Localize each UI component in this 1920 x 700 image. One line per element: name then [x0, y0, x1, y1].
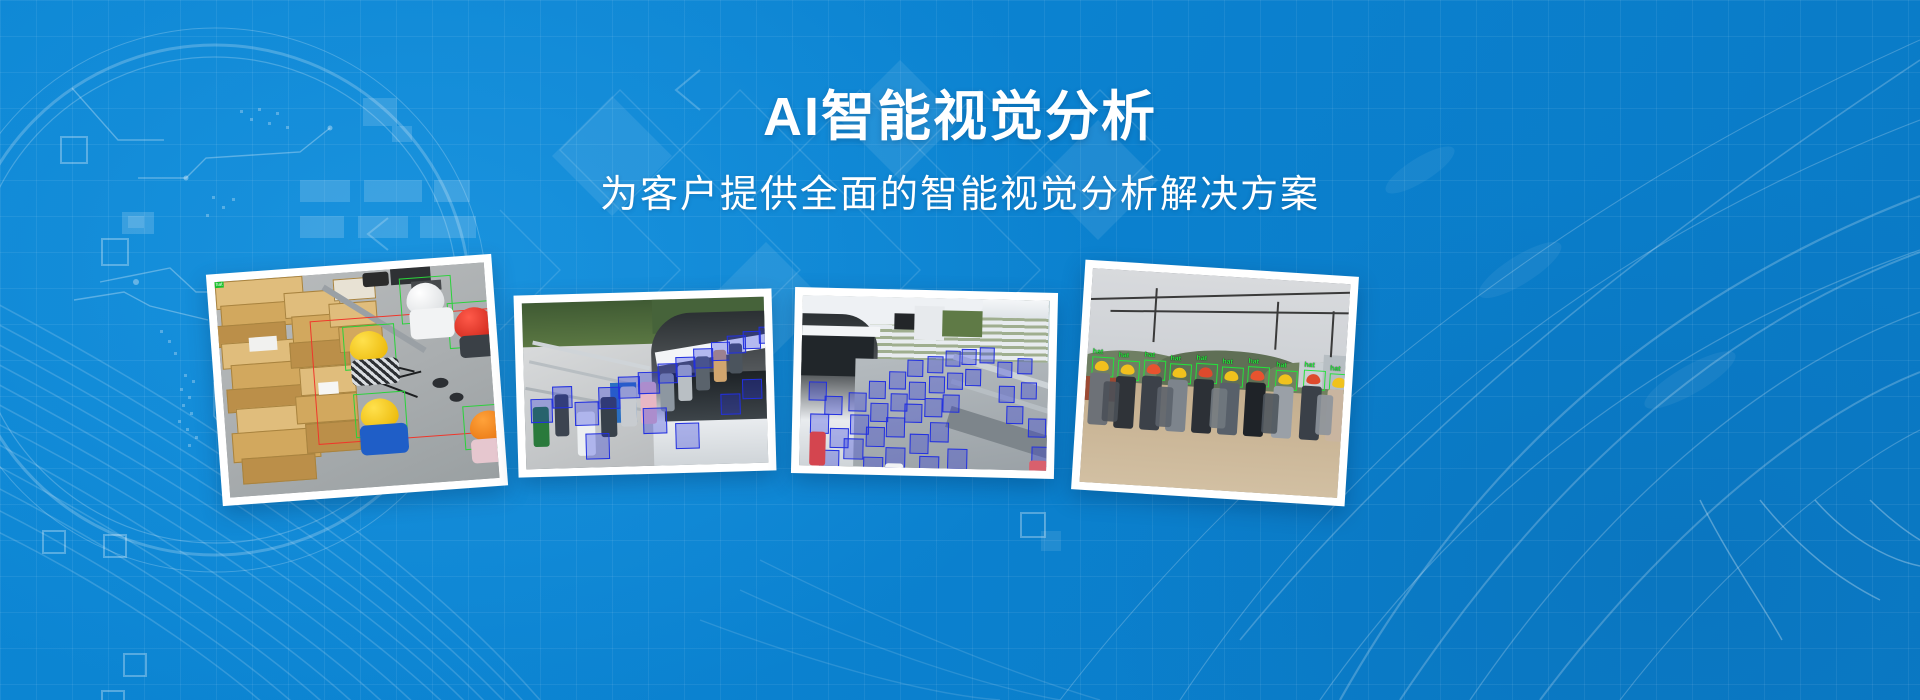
photo-bridge-scene: [522, 297, 769, 470]
ai-vision-banner: AI智能视觉分析 为客户提供全面的智能视觉分析解决方案: [0, 0, 1920, 700]
photo-platform-scene: [799, 295, 1050, 471]
gallery-photo-helmet-detection[interactable]: hat: [206, 254, 508, 506]
page-subtitle: 为客户提供全面的智能视觉分析解决方案: [0, 147, 1920, 219]
gallery-photo-outdoor-hat[interactable]: hat hat hat hat hat: [1071, 260, 1359, 507]
decor-square-4: [42, 530, 66, 554]
banner-copy: AI智能视觉分析 为客户提供全面的智能视觉分析解决方案: [0, 0, 1920, 219]
detection-label: hat: [214, 282, 223, 289]
page-title: AI智能视觉分析: [0, 0, 1920, 147]
decor-square-filled-4: [1041, 531, 1061, 551]
photo-outdoor-scene: hat hat hat hat hat: [1080, 268, 1351, 498]
photo-helmet-scene: hat: [214, 262, 499, 497]
detection-label-hat: hat: [1092, 348, 1103, 357]
photo-gallery: hat: [0, 258, 1920, 518]
decor-square-6: [101, 690, 125, 700]
gallery-photo-platform-crowd[interactable]: [791, 287, 1058, 479]
decor-square-3: [103, 534, 127, 558]
decor-square-5: [123, 653, 147, 677]
gallery-photo-bridge-crowd[interactable]: [514, 288, 777, 477]
